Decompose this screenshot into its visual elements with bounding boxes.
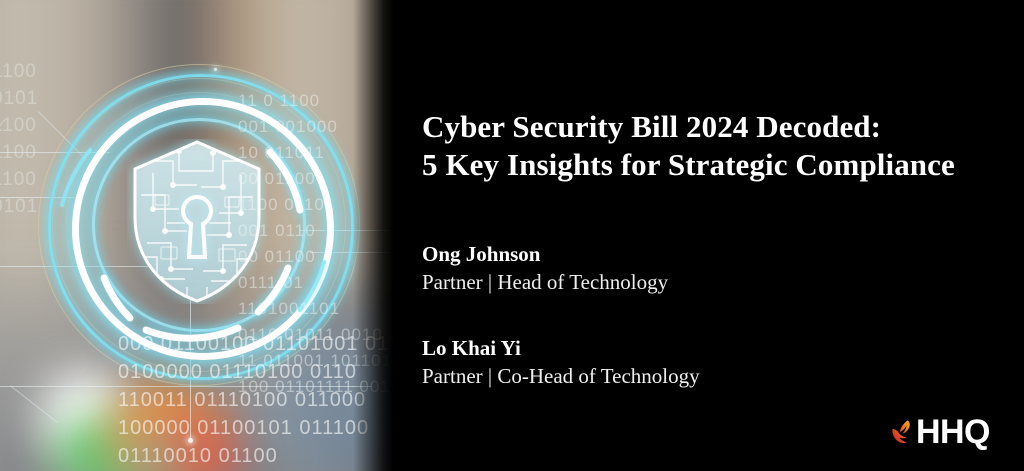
- speaker-name-2: Lo Khai Yi: [422, 334, 982, 362]
- content-panel: Cyber Security Bill 2024 Decoded: 5 Key …: [393, 0, 1024, 471]
- speaker-role-1: Partner | Head of Technology: [422, 268, 982, 297]
- cyber-security-hero-image: 1100 0101 1100 1100 1100 0101 11 0 1100 …: [0, 0, 393, 471]
- page-title: Cyber Security Bill 2024 Decoded: 5 Key …: [422, 108, 1002, 184]
- speaker-role-2: Partner | Co-Head of Technology: [422, 362, 982, 391]
- hhq-flame-mark: [891, 419, 913, 445]
- title-line-1: Cyber Security Bill 2024 Decoded:: [422, 108, 1002, 146]
- speaker-block-2: Lo Khai Yi Partner | Co-Head of Technolo…: [422, 334, 982, 391]
- hhq-logo: HHQ: [891, 415, 990, 449]
- photo-edge-fade: [353, 0, 393, 471]
- title-line-2: 5 Key Insights for Strategic Compliance: [422, 146, 1002, 184]
- logo-text: HHQ: [916, 415, 990, 449]
- webinar-banner: 1100 0101 1100 1100 1100 0101 11 0 1100 …: [0, 0, 1024, 471]
- shield-icon: [127, 139, 267, 304]
- speaker-name-1: Ong Johnson: [422, 240, 982, 268]
- speaker-block-1: Ong Johnson Partner | Head of Technology: [422, 240, 982, 297]
